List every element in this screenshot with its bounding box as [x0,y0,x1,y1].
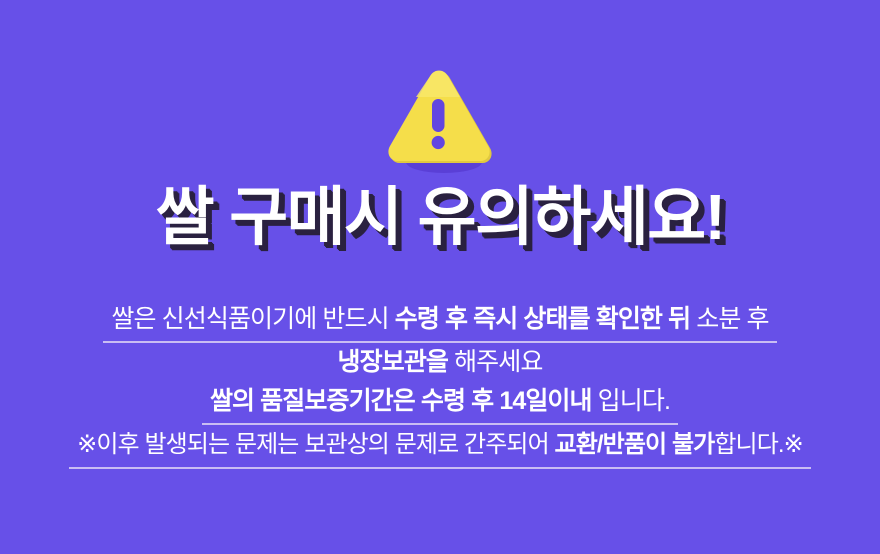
notice-line-1-seg-1: 수령 후 즉시 상태를 확인한 뒤 [395,305,690,333]
notice-line-2-seg-1: 해주세요 [448,348,542,376]
notice-line-3-underlined: 쌀의 품질보증기간은 수령 후 14일이내 입니다. [202,382,678,425]
notice-line-1-underlined: 쌀은 신선식품이기에 반드시 수령 후 즉시 상태를 확인한 뒤 소분 후 [103,300,776,343]
notice-line-4: ※이후 발생되는 문제는 보관상의 문제로 간주되어 교환/반품이 불가합니다.… [0,426,880,469]
notice-line-4-seg-0: ※이후 발생되는 문제는 보관상의 문제로 간주되어 [77,431,554,458]
warning-icon-container [0,66,880,176]
rice-purchase-notice-banner: 쌀 구매시 유의하세요! 쌀은 신선식품이기에 반드시 수령 후 즉시 상태를 … [0,0,880,554]
notice-line-1-seg-2: 소분 후 [690,305,768,333]
notice-line-3: 쌀의 품질보증기간은 수령 후 14일이내 입니다. [0,382,880,425]
notice-line-1-seg-0: 쌀은 신선식품이기에 반드시 [111,305,394,333]
notice-line-4-seg-1: 교환/반품이 불가 [555,431,715,458]
notice-line-2: 냉장보관을 해주세요 [0,343,880,381]
notice-line-4-underlined: ※이후 발생되는 문제는 보관상의 문제로 간주되어 교환/반품이 불가합니다.… [69,426,811,469]
page-title: 쌀 구매시 유의하세요! [0,178,880,256]
notice-line-1: 쌀은 신선식품이기에 반드시 수령 후 즉시 상태를 확인한 뒤 소분 후 [0,300,880,343]
warning-triangle-icon [380,66,500,174]
notice-line-3-seg-1: 입니다. [592,387,670,415]
notice-line-4-seg-2: 합니다.※ [714,431,803,458]
notice-line-2-seg-0: 냉장보관을 [338,348,449,376]
notice-line-3-seg-0: 쌀의 품질보증기간은 수령 후 14일이내 [210,387,592,415]
notice-body: 쌀은 신선식품이기에 반드시 수령 후 즉시 상태를 확인한 뒤 소분 후 냉장… [0,300,880,469]
